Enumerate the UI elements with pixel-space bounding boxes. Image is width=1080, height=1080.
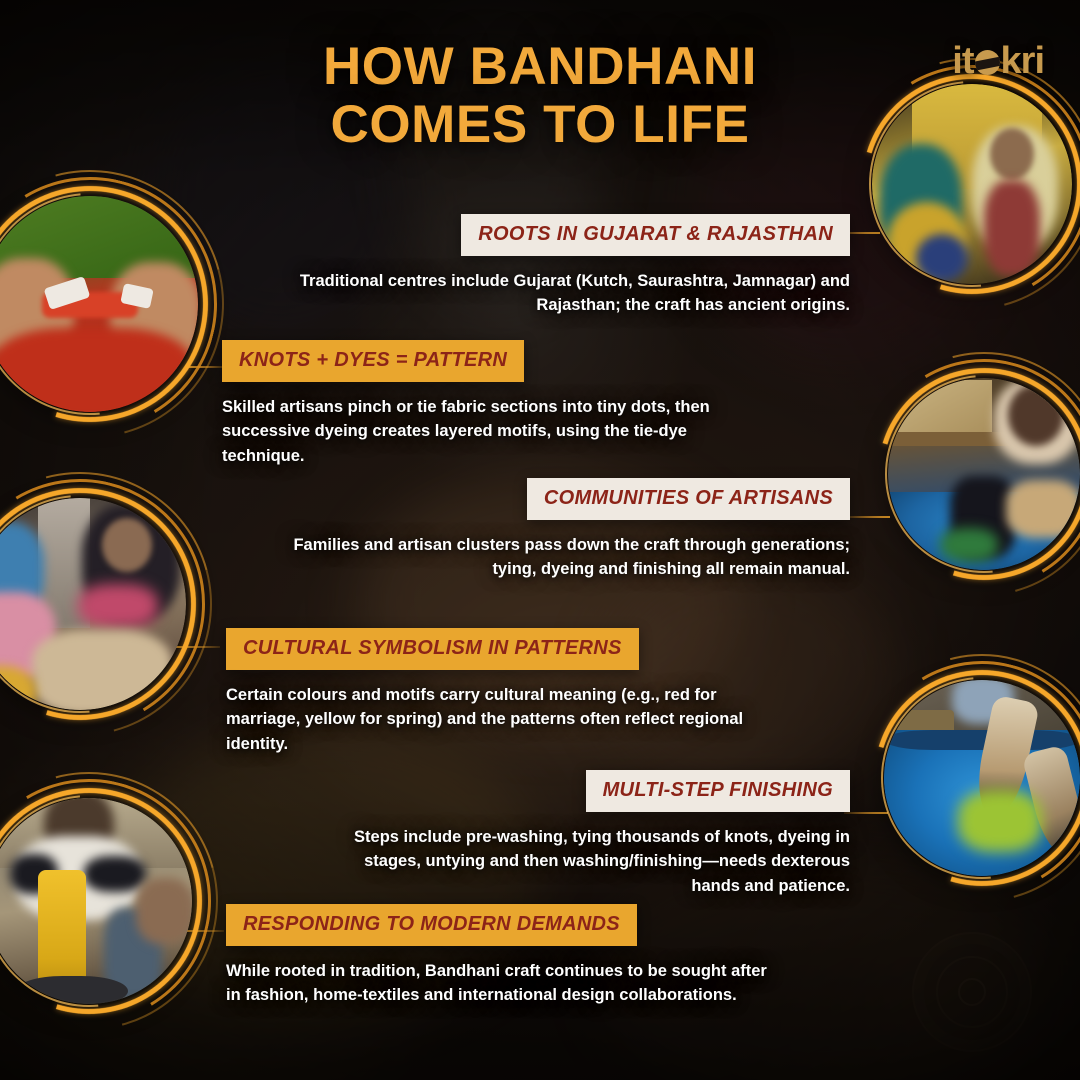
section-body-cultural-symbolism: Certain colours and motifs carry cultura… [226,683,786,756]
section-heading-roots: ROOTS IN GUJARAT & RAJASTHAN [461,214,850,256]
section-heading-communities: COMMUNITIES OF ARTISANS [527,478,850,520]
section-communities: COMMUNITIES OF ARTISANS Families and art… [248,478,850,582]
section-heading-knots-dyes: KNOTS + DYES = PATTERN [222,340,524,382]
section-body-multi-step-finishing: Steps include pre-washing, tying thousan… [300,825,850,898]
photo-connector-line [846,516,890,518]
photo-dyeing-blue-tub [888,378,1080,570]
itokri-logo[interactable]: it kri [952,40,1044,83]
section-body-knots-dyes: Skilled artisans pinch or tie fabric sec… [222,395,782,468]
photo-connector-line [844,812,888,814]
infographic-poster: HOW BANDHANI COMES TO LIFE it kri [0,0,1080,1080]
photo-yellow-dyed-cloth [0,798,192,1004]
section-body-roots: Traditional centres include Gujarat (Kut… [250,269,850,318]
logo-circle-o-icon [975,50,1000,75]
page-title-line-1: HOW BANDHANI [0,38,1080,96]
page-title: HOW BANDHANI COMES TO LIFE [0,38,1080,155]
section-roots: ROOTS IN GUJARAT & RAJASTHAN Traditional… [250,214,850,318]
photo-women-untying [0,498,186,710]
section-modern-demands: RESPONDING TO MODERN DEMANDS While roote… [226,904,786,1008]
logo-text-part-1: it [952,40,973,83]
page-title-line-2: COMES TO LIFE [0,96,1080,154]
section-heading-modern-demands: RESPONDING TO MODERN DEMANDS [226,904,637,946]
logo-text-part-2: kri [1001,40,1044,83]
section-multi-step-finishing: MULTI-STEP FINISHING Steps include pre-w… [300,770,850,898]
section-body-communities: Families and artisan clusters pass down … [248,533,850,582]
section-cultural-symbolism: CULTURAL SYMBOLISM IN PATTERNS Certain c… [226,628,786,756]
section-body-modern-demands: While rooted in tradition, Bandhani craf… [226,959,786,1008]
photo-hands-red-fabric [0,196,198,412]
section-heading-multi-step-finishing: MULTI-STEP FINISHING [586,770,850,812]
section-knots-dyes: KNOTS + DYES = PATTERN Skilled artisans … [222,340,782,468]
section-heading-cultural-symbolism: CULTURAL SYMBOLISM IN PATTERNS [226,628,639,670]
photo-indigo-vat [884,680,1080,876]
